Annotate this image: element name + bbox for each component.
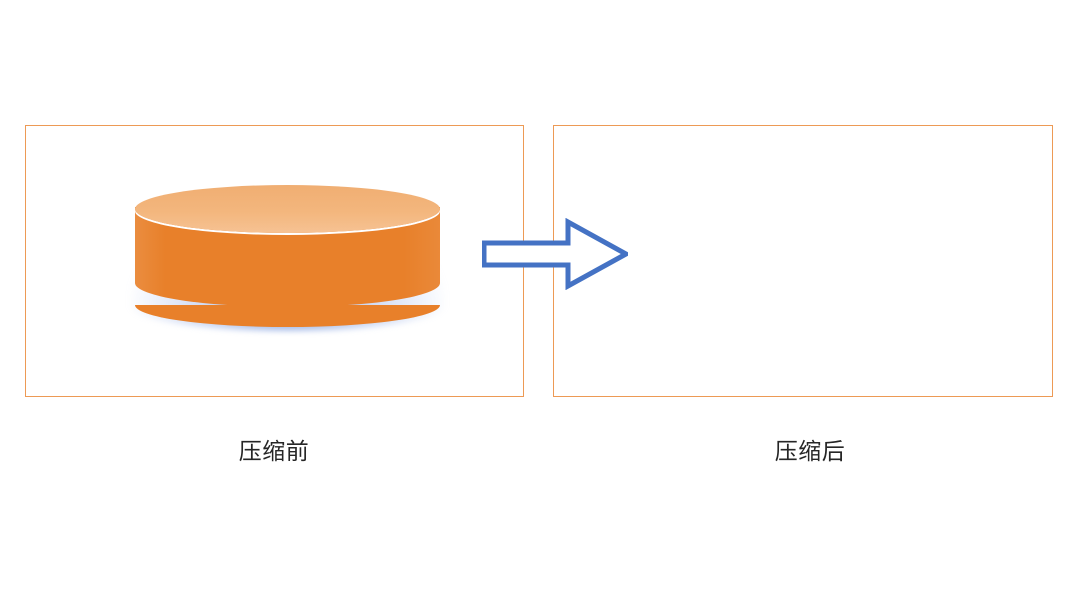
caption-before-compression: 压缩前 bbox=[124, 436, 424, 466]
diagram-canvas: 压缩前 压缩后 bbox=[0, 0, 1080, 607]
caption-after-compression: 压缩后 bbox=[660, 436, 960, 466]
data-volume-cylinder bbox=[135, 185, 440, 327]
right-arrow-icon bbox=[482, 218, 628, 290]
panel-before-compression bbox=[25, 125, 524, 397]
panel-after-compression bbox=[553, 125, 1053, 397]
cylinder-top-ellipse bbox=[135, 185, 440, 233]
